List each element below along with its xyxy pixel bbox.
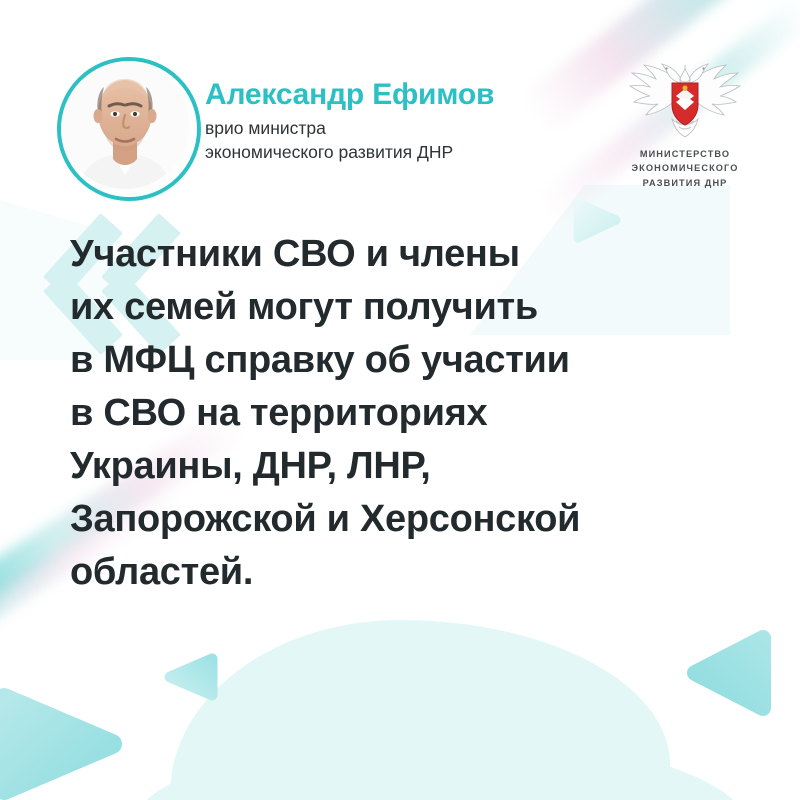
- avatar-photo: [61, 61, 197, 197]
- speaker-role-line-2: экономического развития ДНР: [205, 141, 585, 165]
- card-header: Александр Ефимов врио министра экономиче…: [0, 0, 800, 210]
- pale-blob-shape-lower: [130, 735, 750, 800]
- speaker-role-line-1: врио министра: [205, 117, 585, 141]
- headline-line: Украины, ДНР, ЛНР,: [70, 440, 750, 493]
- headline-line: Участники СВО и члены: [70, 228, 750, 281]
- pale-blob-shape: [170, 620, 670, 800]
- ministry-title-line-1: МИНИСТЕРСТВО: [604, 147, 766, 161]
- headline-line: Запорожской и Херсонской: [70, 493, 750, 546]
- headline-block: Участники СВО и члены их семей могут пол…: [70, 228, 750, 599]
- ministry-logo: МИНИСТЕРСТВО ЭКОНОМИЧЕСКОГО РАЗВИТИЯ ДНР: [604, 52, 766, 190]
- double-headed-eagle-icon: [604, 52, 766, 144]
- speaker-name: Александр Ефимов: [205, 78, 585, 111]
- ministry-title-line-2: ЭКОНОМИЧЕСКОГО: [604, 161, 766, 175]
- headline-line: их семей могут получить: [70, 281, 750, 334]
- ministry-title: МИНИСТЕРСТВО ЭКОНОМИЧЕСКОГО РАЗВИТИЯ ДНР: [604, 147, 766, 190]
- headline-line: в МФЦ справку об участии: [70, 334, 750, 387]
- triangle-bottom-right-icon: [675, 622, 785, 724]
- avatar: [57, 57, 201, 201]
- social-card: Александр Ефимов врио министра экономиче…: [0, 0, 800, 800]
- speaker-info: Александр Ефимов врио министра экономиче…: [205, 78, 585, 164]
- headline-line: областей.: [70, 546, 750, 599]
- headline-line: в СВО на территориях: [70, 387, 750, 440]
- ministry-title-line-3: РАЗВИТИЯ ДНР: [604, 176, 766, 190]
- triangle-bottom-center-icon: [160, 650, 222, 704]
- triangle-bottom-left-icon: [0, 680, 136, 800]
